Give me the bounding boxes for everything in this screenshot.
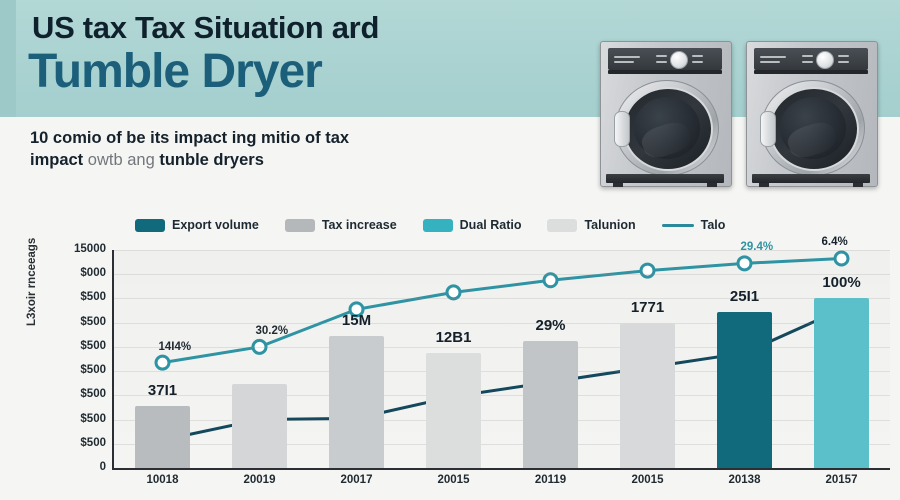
dryer-foot <box>613 183 623 187</box>
data-point-marker[interactable] <box>738 257 751 270</box>
door-handle-icon <box>614 111 630 147</box>
subtitle-line-1: 10 comio of be its impact ing mitio of t… <box>30 129 349 147</box>
subtitle-line-2-bold-b: tunble dryers <box>159 151 264 169</box>
legend-item-2[interactable]: Dual Ratio <box>423 218 522 232</box>
x-axis-tick-label: 20138 <box>696 474 793 486</box>
gridline <box>114 371 890 372</box>
panel-indicator-icon <box>614 56 640 58</box>
legend-item-0[interactable]: Export volume <box>135 218 259 232</box>
dryer-body <box>746 41 878 187</box>
panel-base-trim <box>754 70 868 74</box>
bar-20019[interactable] <box>232 384 286 468</box>
y-axis-tick-label: $500 <box>26 388 106 400</box>
legend-item-4[interactable]: Talo <box>662 218 726 232</box>
legend-label: Dual Ratio <box>460 218 522 232</box>
panel-indicator-icon <box>692 61 703 63</box>
line-data-label: 30.2% <box>256 325 289 337</box>
bar-data-label: 12B1 <box>405 329 502 346</box>
control-panel <box>608 48 722 70</box>
panel-indicator-icon <box>838 55 849 57</box>
bar-data-label: 25I1 <box>696 288 793 305</box>
x-axis-tick-label: 20157 <box>793 474 890 486</box>
x-axis-tick-label: 10018 <box>114 474 211 486</box>
panel-indicator-icon <box>802 61 813 63</box>
door-glass <box>634 97 700 159</box>
legend-item-1[interactable]: Tax increase <box>285 218 397 232</box>
bar-data-label: 100% <box>793 274 890 291</box>
legend-item-3[interactable]: Talunion <box>547 218 635 232</box>
y-axis-tick-label: $500 <box>26 291 106 303</box>
page-title-top: US tax Tax Situation ard <box>32 12 552 45</box>
x-axis-tick-label: 20015 <box>405 474 502 486</box>
page-title-main: Tumble Dryer <box>28 48 568 96</box>
panel-indicator-icon <box>656 61 667 63</box>
y-axis-tick-label: $000 <box>26 267 106 279</box>
legend-swatch-icon <box>285 219 315 232</box>
y-axis-tick-label: $500 <box>26 340 106 352</box>
legend-swatch-icon <box>547 219 577 232</box>
bar-20119[interactable] <box>523 341 577 468</box>
y-axis-tick-label: $500 <box>26 364 106 376</box>
panel-indicator-icon <box>760 56 786 58</box>
control-panel <box>754 48 868 70</box>
line-data-label: 29.4% <box>741 241 774 253</box>
data-point-marker[interactable] <box>544 274 557 287</box>
header-accent-strip <box>0 0 16 117</box>
y-axis-tick-label: $500 <box>26 316 106 328</box>
bar-data-label: 1771 <box>599 299 696 316</box>
door-glass <box>780 97 846 159</box>
legend-swatch-icon <box>135 219 165 232</box>
glass-sheen <box>639 118 694 161</box>
bar-data-label: 29% <box>502 317 599 334</box>
legend-label: Talo <box>701 218 726 232</box>
bar-data-label: 37I1 <box>114 382 211 399</box>
x-axis-tick-label: 20019 <box>211 474 308 486</box>
bar-data-label: 15M <box>308 312 405 329</box>
y-axis-tick-label: 0 <box>26 461 106 473</box>
x-axis-tick-label: 20017 <box>308 474 405 486</box>
dryer-foot <box>759 183 769 187</box>
y-axis-title: L3xoir rnceeags <box>26 206 38 326</box>
panel-indicator-icon <box>614 61 634 63</box>
legend-swatch-icon <box>423 219 453 232</box>
line-data-label: 6.4% <box>822 236 848 248</box>
x-axis-tick-label: 20119 <box>502 474 599 486</box>
bar-20157[interactable] <box>814 298 868 468</box>
appliance-illustration <box>600 33 882 193</box>
data-point-marker[interactable] <box>447 286 460 299</box>
tumble-dryer-icon-left <box>600 33 730 185</box>
legend-label: Talunion <box>584 218 635 232</box>
subtitle-line-2-faint: owtb ang <box>88 151 160 169</box>
subtitle: 10 comio of be its impact ing mitio of t… <box>30 128 570 172</box>
glass-sheen <box>785 118 840 161</box>
gridline <box>114 347 890 348</box>
y-axis-tick-label: $500 <box>26 437 106 449</box>
data-point-marker[interactable] <box>835 252 848 265</box>
y-axis-tick-label: $500 <box>26 413 106 425</box>
panel-indicator-icon <box>692 55 703 57</box>
bar-20015[interactable] <box>426 353 480 468</box>
chart-area: L3xoir rnceeags 15000$000$500$500$500$50… <box>12 248 888 488</box>
panel-indicator-icon <box>838 61 849 63</box>
plot-area: 15000$000$500$500$500$500$500$500$500037… <box>112 250 890 470</box>
gridline <box>114 274 890 275</box>
panel-indicator-icon <box>656 55 667 57</box>
subtitle-line-2-bold-a: impact <box>30 151 88 169</box>
door-ring <box>769 87 859 171</box>
dial-knob-icon <box>670 51 688 69</box>
bar-20017[interactable] <box>329 336 383 468</box>
bar-20138[interactable] <box>717 312 771 468</box>
dryer-foot <box>707 183 717 187</box>
panel-indicator-icon <box>760 61 780 63</box>
legend-label: Tax increase <box>322 218 397 232</box>
gridline <box>114 420 890 421</box>
legend-line-icon <box>662 224 694 227</box>
gridline <box>114 250 890 251</box>
legend-label: Export volume <box>172 218 259 232</box>
dryer-door <box>615 80 719 176</box>
gridline <box>114 395 890 396</box>
infographic-canvas: US tax Tax Situation ard Tumble Dryer 10… <box>0 0 900 500</box>
panel-base-trim <box>608 70 722 74</box>
chart-legend: Export volumeTax increaseDual RatioTalun… <box>135 214 725 236</box>
x-axis-tick-label: 20015 <box>599 474 696 486</box>
panel-indicator-icon <box>802 55 813 57</box>
dial-knob-icon <box>816 51 834 69</box>
dryer-foot <box>853 183 863 187</box>
dryer-door <box>761 80 865 176</box>
data-point-marker[interactable] <box>156 356 169 369</box>
bar-20015[interactable] <box>620 323 674 468</box>
door-ring <box>623 87 713 171</box>
dryer-base-trim <box>606 174 724 183</box>
tumble-dryer-icon-right <box>746 33 876 185</box>
y-axis-tick-label: 15000 <box>26 243 106 255</box>
door-handle-icon <box>760 111 776 147</box>
bar-10018[interactable] <box>135 406 189 468</box>
gridline <box>114 444 890 445</box>
dryer-base-trim <box>752 174 870 183</box>
line-series-layer <box>114 250 890 468</box>
dryer-body <box>600 41 732 187</box>
line-data-label: 14I4% <box>159 341 192 353</box>
